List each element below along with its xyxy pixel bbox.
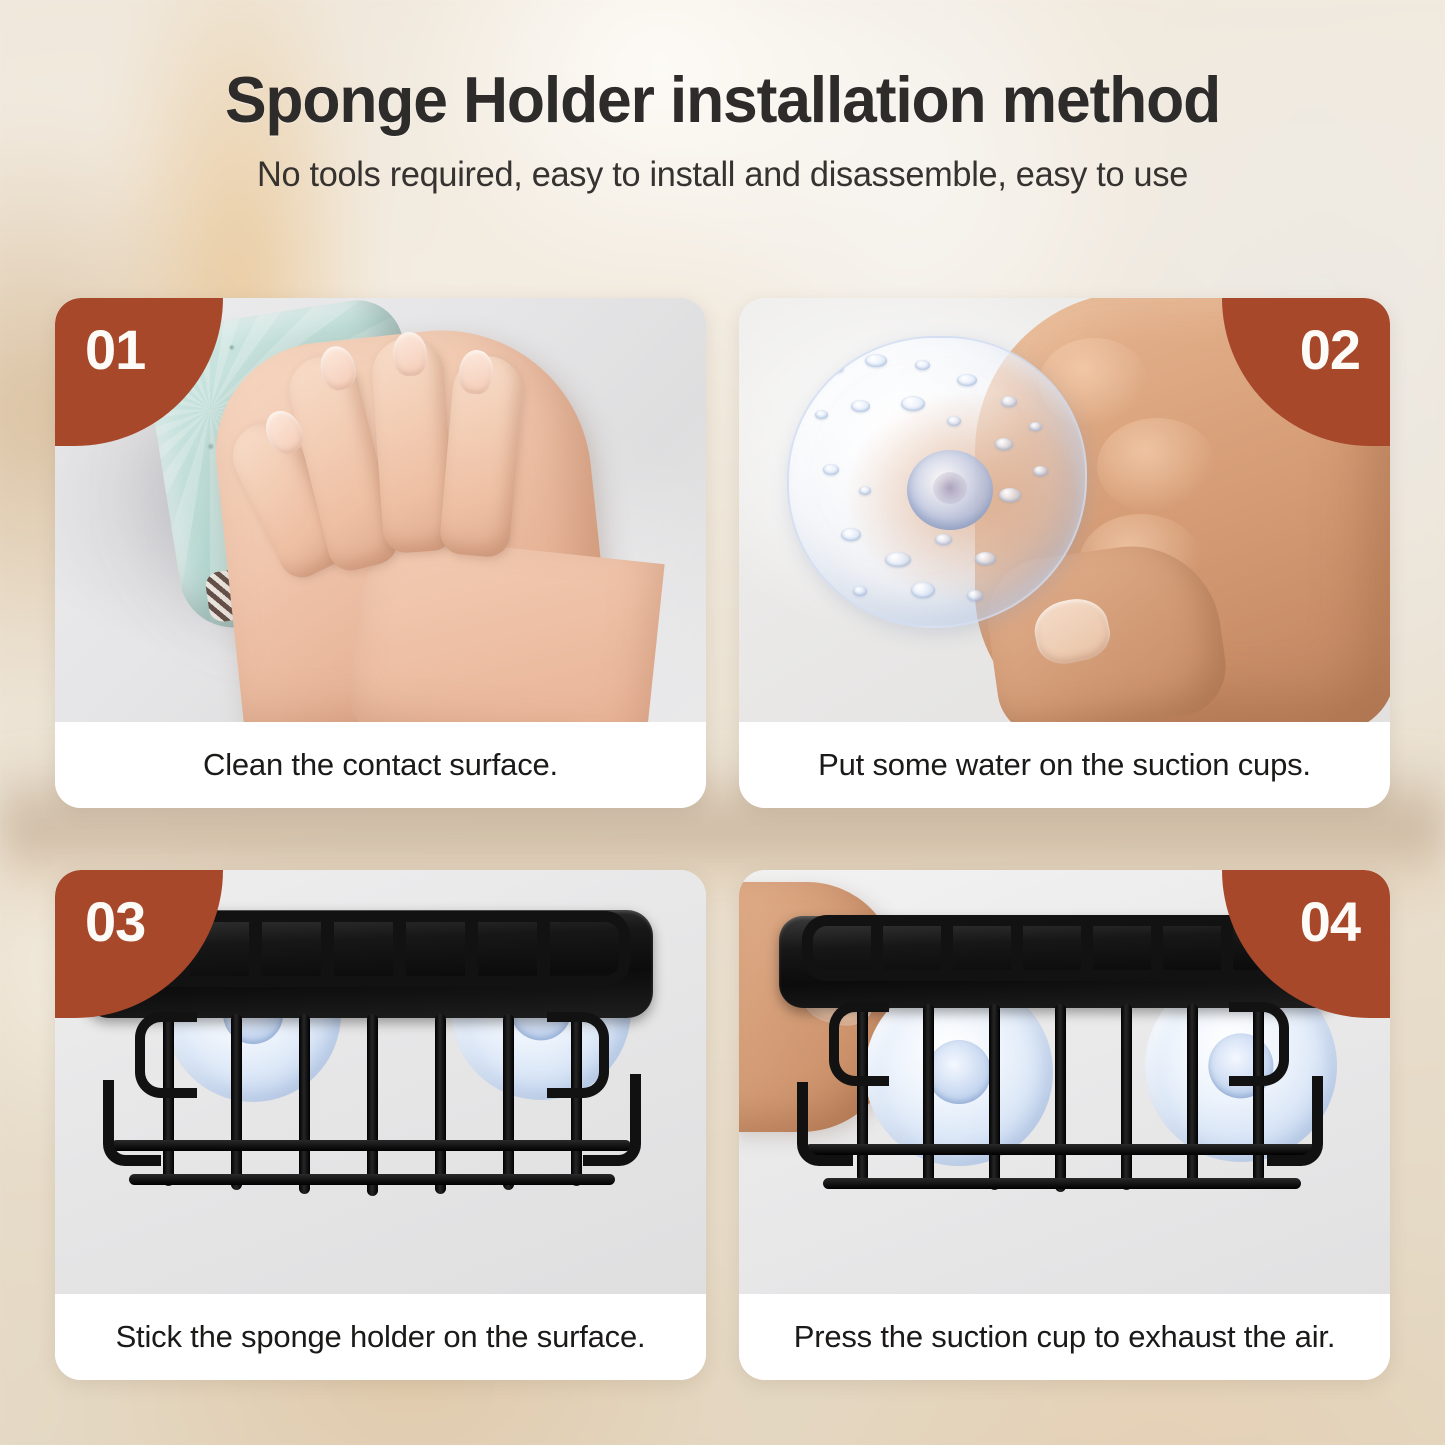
basket-wire — [1121, 1004, 1132, 1190]
water-droplet — [935, 534, 952, 545]
basket-bottom-bar — [111, 1140, 631, 1151]
rim-slat — [1011, 920, 1023, 976]
infographic-page: Sponge Holder installation method No too… — [0, 0, 1445, 1445]
caption-text: Put some water on the suction cups. — [818, 747, 1311, 783]
forearm — [345, 533, 664, 722]
basket-wire — [299, 1014, 310, 1194]
step-caption-02: Put some water on the suction cups. — [739, 722, 1390, 808]
step-photo-02: 02 — [739, 298, 1390, 722]
water-droplet — [911, 582, 935, 598]
basket-wire — [231, 1014, 242, 1190]
caption-text: Clean the contact surface. — [203, 747, 558, 783]
header: Sponge Holder installation method No too… — [0, 62, 1445, 195]
suction-cup-center-nub — [907, 450, 993, 530]
basket-side-loop-left — [829, 1002, 889, 1086]
caption-text: Press the suction cup to exhaust the air… — [794, 1319, 1336, 1355]
basket-bottom-bar — [805, 1144, 1317, 1155]
rim-slat — [393, 914, 406, 978]
rim-slat — [871, 922, 883, 978]
water-droplet — [823, 464, 839, 475]
water-droplet — [947, 416, 961, 426]
step-caption-03: Stick the sponge holder on the surface. — [55, 1294, 706, 1380]
water-droplet — [885, 552, 911, 567]
water-droplet — [1029, 422, 1042, 431]
suction-cup — [787, 336, 1087, 628]
water-droplet — [815, 410, 828, 419]
step-photo-04: 04 — [739, 870, 1390, 1294]
water-droplet — [995, 438, 1013, 450]
basket-wire — [989, 1004, 1000, 1190]
caption-text: Stick the sponge holder on the surface. — [116, 1319, 646, 1355]
step-card-04: 04 Press the suction cup to exhaust the … — [739, 870, 1390, 1380]
page-title: Sponge Holder installation method — [29, 62, 1416, 137]
basket-side-loop-right — [1229, 1002, 1289, 1086]
step-card-02: 02 Put some water on the suction cups. — [739, 298, 1390, 808]
step-photo-01: 01 — [55, 298, 706, 722]
knuckle — [1097, 418, 1217, 514]
water-droplet — [865, 354, 887, 367]
water-droplet — [841, 528, 861, 541]
steps-grid: 01 Clean the contact surface. — [55, 298, 1390, 1380]
water-droplet — [975, 552, 996, 565]
step-number: 03 — [85, 894, 145, 950]
rim-slat — [1081, 920, 1093, 976]
rim-slat — [1151, 921, 1163, 977]
basket-wire — [1055, 1004, 1066, 1192]
water-droplet — [851, 400, 870, 412]
water-droplet — [853, 586, 867, 596]
water-droplet — [901, 396, 925, 411]
page-subtitle: No tools required, easy to install and d… — [14, 155, 1430, 195]
step-caption-01: Clean the contact surface. — [55, 722, 706, 808]
step-card-01: 01 Clean the contact surface. — [55, 298, 706, 808]
basket-wire — [1187, 1004, 1198, 1186]
rim-slat — [465, 916, 478, 980]
step-number: 02 — [1300, 322, 1360, 378]
water-droplet — [859, 486, 871, 495]
water-droplet — [1033, 466, 1048, 476]
water-droplet — [957, 374, 977, 386]
rim-slat — [1221, 922, 1233, 978]
basket-corner-hook-left — [797, 1082, 853, 1166]
basket-corner-hook-right — [1267, 1076, 1323, 1166]
basket-corner-hook-right — [583, 1074, 641, 1166]
step-photo-03: 03 — [55, 870, 706, 1294]
basket-wire — [435, 1014, 446, 1194]
basket-bottom-bar — [129, 1174, 615, 1185]
step-card-03: 03 Stick the sponge holder on the surfac… — [55, 870, 706, 1380]
basket-wire — [503, 1014, 514, 1190]
water-droplet — [827, 362, 844, 373]
rim-slat — [537, 918, 550, 982]
water-droplet — [915, 360, 930, 370]
rim-slat — [249, 916, 262, 980]
basket-wire — [367, 1014, 378, 1196]
rim-slat — [941, 921, 953, 977]
step-number: 04 — [1300, 894, 1360, 950]
water-droplet — [967, 590, 983, 601]
water-droplet — [1001, 396, 1017, 407]
step-caption-04: Press the suction cup to exhaust the air… — [739, 1294, 1390, 1380]
step-number: 01 — [85, 322, 145, 378]
basket-wire — [923, 1004, 934, 1186]
basket-bottom-bar — [823, 1178, 1301, 1189]
basket-corner-hook-left — [103, 1080, 161, 1166]
rim-slat — [321, 914, 334, 978]
water-droplet — [999, 488, 1021, 502]
